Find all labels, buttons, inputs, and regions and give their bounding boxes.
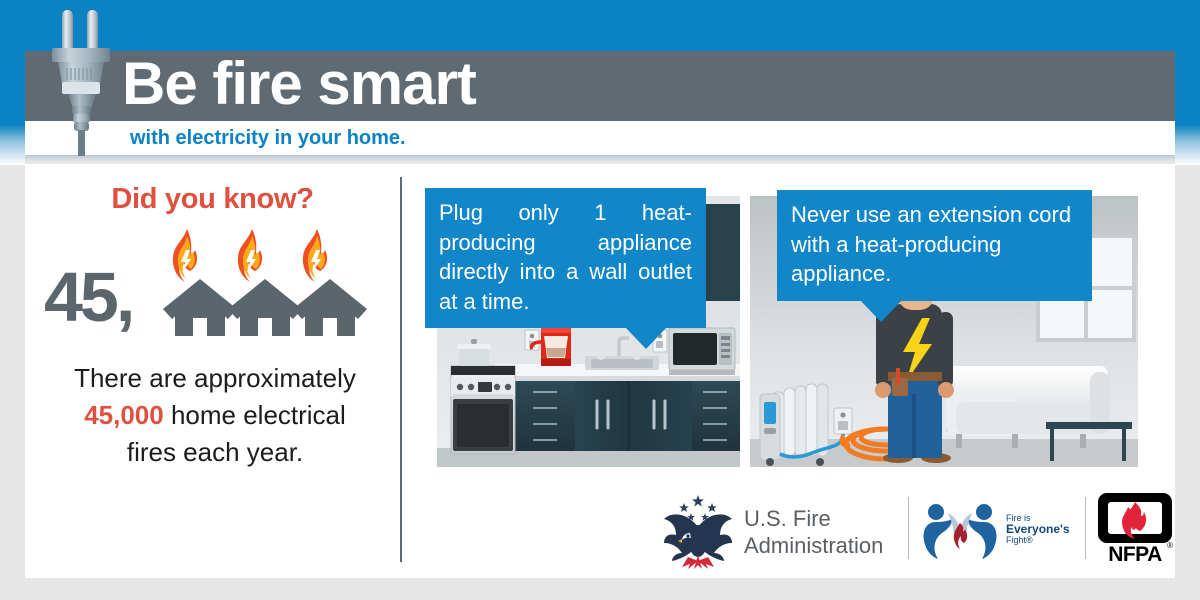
statistic-number: 45, [44,262,132,332]
feef-people-icon [922,499,1000,561]
callout-tail [625,327,667,349]
fire-is-everyones-fight-logo: Fire is Everyone's Fight® [922,499,1077,561]
logo-separator [1085,497,1086,559]
flame-icon [168,228,202,288]
callout-tail [860,300,902,322]
electrical-plug-icon [34,4,134,156]
callout-living-room-text: Never use an extension cord with a heat-… [791,202,1071,286]
did-you-know-heading: Did you know? [40,183,385,216]
stat-text-highlight: 45,000 [84,400,164,430]
page-subtitle: with electricity in your home. [130,124,406,152]
flame-icon [233,228,267,288]
stat-text-before: There are approximately [74,363,356,393]
vertical-divider [400,177,402,562]
us-fire-administration-logo: U.S. Fire Administration [658,491,908,569]
callout-living-room: Never use an extension cord with a heat-… [777,190,1092,301]
nfpa-flame-icon [1098,493,1172,543]
flame-icon [298,228,332,288]
nfpa-wordmark: NFPA [1098,543,1172,567]
feef-line-3: Fight® [1006,535,1070,546]
feef-logo-text: Fire is Everyone's Fight® [1006,513,1070,546]
callout-kitchen-text: Plug only 1 heat-producing appliance dir… [439,200,692,314]
feef-line-2: Everyone's [1006,524,1070,535]
statistic-graphic: 45, [42,228,387,343]
infographic-poster: Be fire smart with electricity in your h… [0,0,1200,600]
usfa-logo-text: U.S. Fire Administration [744,505,883,559]
nfpa-logo: NFPA ® [1098,493,1172,569]
header-shadow-line [25,155,1175,164]
usfa-eagle-icon [658,491,738,569]
page-title: Be fire smart [122,48,476,120]
footer-logos: U.S. Fire Administration Fire is Everyon… [640,487,1180,571]
statistic-description: There are approximately 45,000 home elec… [60,360,370,471]
callout-kitchen: Plug only 1 heat-producing appliance dir… [425,188,706,328]
nfpa-registered-mark: ® [1167,541,1173,550]
logo-separator [908,497,909,559]
